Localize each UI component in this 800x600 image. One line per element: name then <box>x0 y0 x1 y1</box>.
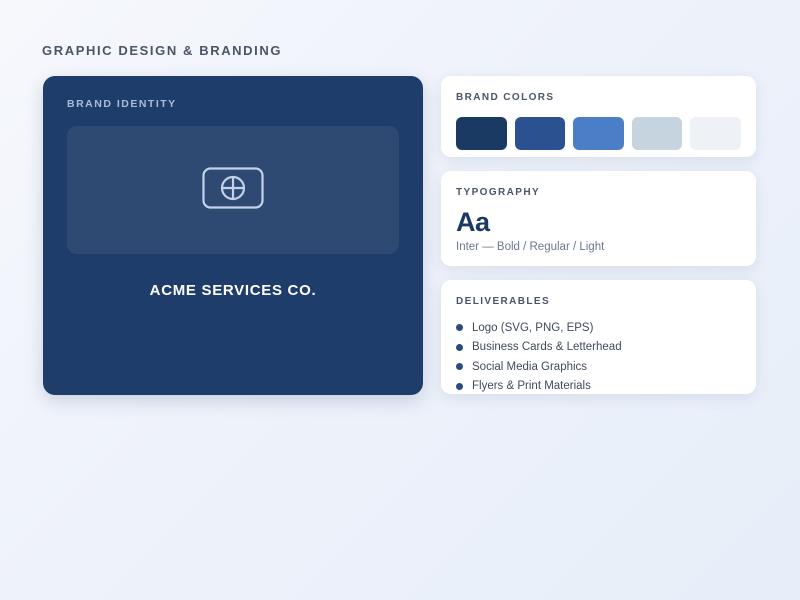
list-item-label: Business Cards & Letterhead <box>472 341 622 353</box>
deliverables-label: DELIVERABLES <box>456 296 741 307</box>
swatch-row <box>456 117 741 150</box>
deliverables-panel: DELIVERABLES Logo (SVG, PNG, EPS) Busine… <box>441 280 756 394</box>
crosshair-in-frame-icon <box>202 167 264 214</box>
swatch-blue[interactable] <box>573 117 624 150</box>
deliverables-list: Logo (SVG, PNG, EPS) Business Cards & Le… <box>456 318 741 396</box>
typography-panel: TYPOGRAPHY Aa Inter — Bold / Regular / L… <box>441 171 756 266</box>
brand-colors-panel: BRAND COLORS <box>441 76 756 157</box>
list-item-label: Social Media Graphics <box>472 361 587 373</box>
list-item: Business Cards & Letterhead <box>456 338 741 358</box>
list-item: Logo (SVG, PNG, EPS) <box>456 318 741 338</box>
logo-preview-stage <box>67 126 399 254</box>
bullet-icon <box>456 363 463 370</box>
swatch-off-white[interactable] <box>690 117 741 150</box>
bullet-icon <box>456 324 463 331</box>
typeface-sample: Aa <box>456 208 741 236</box>
list-item-label: Logo (SVG, PNG, EPS) <box>472 322 593 334</box>
brand-colors-label: BRAND COLORS <box>456 92 741 103</box>
bullet-icon <box>456 344 463 351</box>
brand-identity-label: BRAND IDENTITY <box>67 98 399 110</box>
page-title: GRAPHIC DESIGN & BRANDING <box>42 43 282 58</box>
list-item: Social Media Graphics <box>456 357 741 377</box>
swatch-pale-blue[interactable] <box>632 117 683 150</box>
list-item: Flyers & Print Materials <box>456 377 741 397</box>
list-item-label: Flyers & Print Materials <box>472 380 591 392</box>
brand-identity-card: BRAND IDENTITY ACME SERVICES CO. <box>43 76 423 395</box>
typography-label: TYPOGRAPHY <box>456 187 741 198</box>
swatch-navy-darkest[interactable] <box>456 117 507 150</box>
swatch-navy[interactable] <box>515 117 566 150</box>
brand-name: ACME SERVICES CO. <box>67 282 399 299</box>
bullet-icon <box>456 383 463 390</box>
typeface-meta: Inter — Bold / Regular / Light <box>456 241 741 253</box>
